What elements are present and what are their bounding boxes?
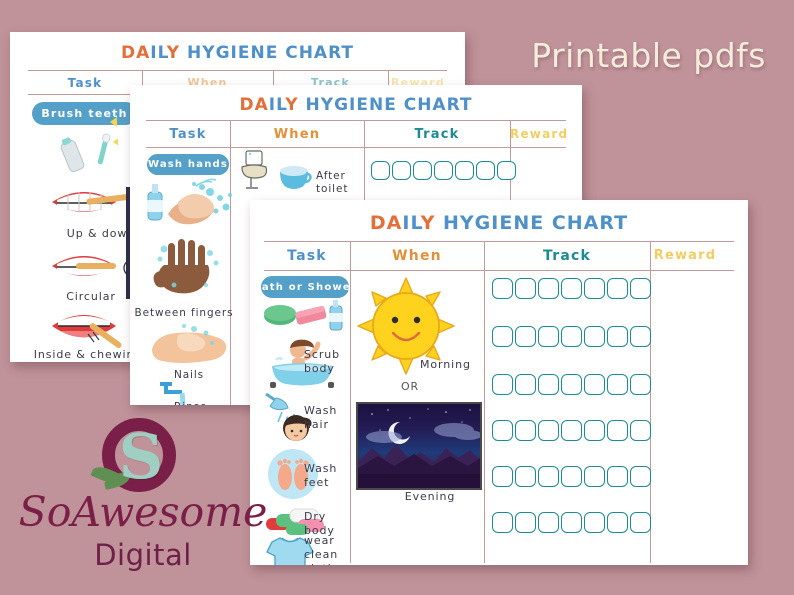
track-checkbox[interactable] (538, 512, 559, 533)
step-label-wash-hair: Wash hair (304, 404, 350, 432)
track-checkbox[interactable] (584, 326, 605, 347)
step-label-nails: Nails (144, 369, 234, 382)
column-header-reward: Reward (510, 127, 566, 141)
track-checkbox[interactable] (492, 466, 513, 487)
logo-brand-name: SoAwesome (18, 488, 268, 536)
column-header-track: Track (484, 248, 650, 264)
task-badge-wash-hands[interactable]: Wash hands (147, 154, 229, 175)
step-label-wash-feet: Wash feet (304, 462, 350, 490)
poster-canvas: DAILY HYGIENE CHART Task When Track Rewa… (0, 0, 794, 595)
track-checkbox[interactable] (538, 466, 559, 487)
track-checkbox[interactable] (434, 161, 453, 180)
soap-dispenser-hands-icon (144, 178, 240, 234)
column-header-task: Task (264, 248, 350, 264)
track-row[interactable] (492, 278, 651, 299)
track-checkbox[interactable] (561, 326, 582, 347)
step-label-between-fingers: Between fingers (134, 307, 234, 320)
track-checkbox[interactable] (492, 278, 513, 299)
column-header-reward: Reward (650, 248, 720, 263)
chart-title-hygiene: HYGIENE CHART (187, 43, 354, 63)
track-checkbox[interactable] (492, 420, 513, 441)
track-checkbox[interactable] (607, 512, 628, 533)
track-checkbox[interactable] (492, 326, 513, 347)
track-checkbox[interactable] (515, 278, 536, 299)
track-checkbox[interactable] (455, 161, 474, 180)
when-label-morning: Morning (420, 358, 482, 372)
step-label-wear-clean-clothes: wear clean clothes (304, 534, 354, 565)
track-checkbox[interactable] (492, 374, 513, 395)
col-divider-task-when (230, 120, 231, 405)
track-checkbox[interactable] (538, 420, 559, 441)
track-checkbox[interactable] (630, 326, 651, 347)
night-sky-moon-image (356, 402, 482, 490)
track-checkbox[interactable] (561, 278, 582, 299)
track-checkbox[interactable] (561, 512, 582, 533)
track-row[interactable] (371, 161, 516, 180)
bath-or-shower-chart-sheet[interactable]: DAILY HYGIENE CHART Task When Track Rewa… (250, 200, 748, 565)
track-checkbox[interactable] (515, 466, 536, 487)
toothbrush-toothpaste-icon (50, 132, 130, 172)
track-checkbox[interactable] (584, 420, 605, 441)
track-checkbox[interactable] (515, 512, 536, 533)
track-row[interactable] (492, 466, 651, 487)
track-checkbox[interactable] (607, 374, 628, 395)
logo-brand-subtitle: Digital (18, 538, 268, 572)
track-checkbox[interactable] (584, 374, 605, 395)
chart-title: DAILY HYGIENE CHART (10, 43, 465, 63)
table-top-rule (264, 241, 734, 242)
track-checkbox[interactable] (607, 278, 628, 299)
track-checkbox[interactable] (413, 161, 432, 180)
track-checkbox[interactable] (515, 326, 536, 347)
when-separator-or: OR (380, 380, 440, 394)
track-checkbox[interactable] (561, 420, 582, 441)
printable-pdfs-label: Printable pdfs (531, 36, 766, 75)
track-checkbox[interactable] (538, 278, 559, 299)
track-checkbox[interactable] (584, 512, 605, 533)
potty-icon (278, 163, 312, 191)
sponges-soap-bottle-icon (262, 300, 348, 334)
track-checkbox[interactable] (476, 161, 495, 180)
chart-title-hygiene: HYGIENE CHART (443, 212, 628, 234)
track-checkbox[interactable] (497, 161, 516, 180)
track-checkbox[interactable] (630, 466, 651, 487)
col-divider-when-track (484, 241, 485, 563)
chart-title-hygiene: HYGIENE CHART (306, 95, 473, 115)
task-badge-bath-or-shower[interactable]: Bath or Shower (261, 276, 349, 298)
column-header-task: Task (28, 76, 142, 90)
column-header-when: When (230, 127, 364, 142)
table-top-rule (28, 70, 447, 71)
track-row[interactable] (492, 326, 651, 347)
track-checkbox[interactable] (630, 420, 651, 441)
track-checkbox[interactable] (538, 326, 559, 347)
when-label-evening: Evening (390, 490, 470, 504)
chart-title: DAILY HYGIENE CHART (130, 95, 582, 115)
yellow-marker-icon (110, 117, 117, 127)
track-checkbox[interactable] (630, 512, 651, 533)
scrubbing-nails-icon (148, 323, 230, 369)
column-header-when: When (350, 248, 484, 264)
track-checkbox[interactable] (538, 374, 559, 395)
table-header-rule (264, 270, 734, 271)
step-label-scrub-body: Scrub body (304, 348, 350, 376)
chart-title: DAILY HYGIENE CHART (250, 212, 748, 234)
column-header-task: Task (146, 127, 230, 142)
track-row[interactable] (492, 374, 651, 395)
track-checkbox[interactable] (607, 326, 628, 347)
track-checkbox[interactable] (371, 161, 390, 180)
track-checkbox[interactable] (607, 420, 628, 441)
track-checkbox[interactable] (515, 374, 536, 395)
track-checkbox[interactable] (584, 466, 605, 487)
track-checkbox[interactable] (630, 278, 651, 299)
yellow-marker-icon (113, 139, 118, 146)
track-checkbox[interactable] (607, 466, 628, 487)
when-label-after-toilet: After toilet (316, 170, 366, 196)
track-checkbox[interactable] (515, 420, 536, 441)
brand-logo[interactable]: S SoAwesome Digital (18, 412, 268, 587)
task-badge-brush-teeth[interactable]: Brush teeth (32, 102, 137, 125)
track-checkbox[interactable] (561, 374, 582, 395)
table-header-rule (146, 147, 566, 148)
table-top-rule (146, 120, 566, 121)
column-header-track: Track (364, 127, 510, 142)
track-checkbox[interactable] (492, 512, 513, 533)
track-checkbox[interactable] (561, 466, 582, 487)
track-checkbox[interactable] (584, 278, 605, 299)
logo-letter-s: S (106, 420, 176, 492)
track-row[interactable] (492, 512, 651, 533)
interlaced-fingers-icon (152, 237, 230, 307)
toilet-icon (238, 149, 272, 191)
step-label-rinse: Rinse (174, 401, 234, 405)
track-checkbox[interactable] (392, 161, 411, 180)
track-row[interactable] (492, 420, 651, 441)
track-checkbox[interactable] (630, 374, 651, 395)
